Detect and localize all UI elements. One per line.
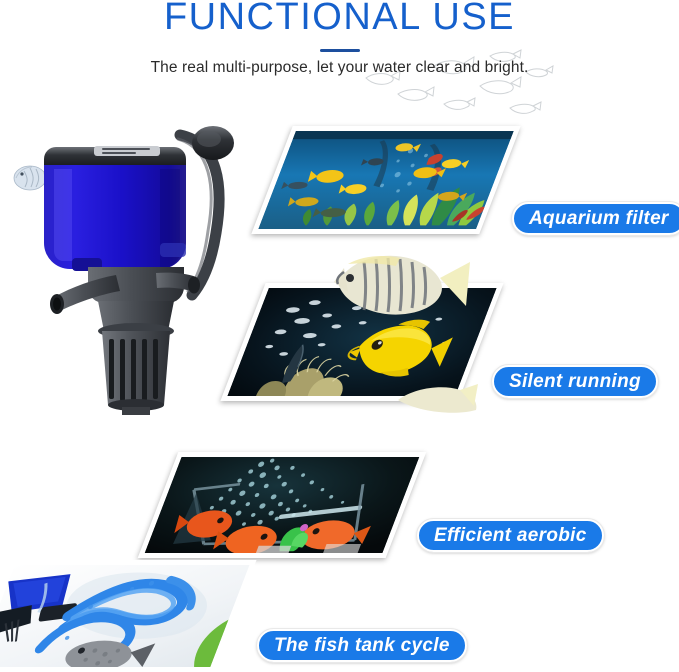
feature-badge-aquarium-filter[interactable]: Aquarium filter (512, 202, 679, 235)
badge-label: Efficient aerobic (434, 525, 587, 547)
title-divider (320, 49, 360, 52)
feature-photo-efficient-aerobic (138, 452, 427, 558)
product-pump-image (10, 115, 260, 415)
feature-photo-fish-tank-cycle (0, 560, 256, 672)
badge-label: Silent running (509, 371, 641, 393)
marketing-banner: FUNCTIONAL USE The real multi-purpose, l… (0, 0, 679, 665)
badge-label: Aquarium filter (529, 208, 669, 230)
badge-label: The fish tank cycle (274, 635, 450, 657)
page-subtitle: The real multi-purpose, let your water c… (0, 59, 679, 77)
page-title: FUNCTIONAL USE (0, 0, 679, 39)
feature-badge-fish-tank-cycle[interactable]: The fish tank cycle (257, 629, 467, 662)
feature-photo-aquarium-filter (251, 126, 520, 234)
feature-badge-silent-running[interactable]: Silent running (492, 365, 658, 398)
feature-badge-efficient-aerobic[interactable]: Efficient aerobic (417, 519, 604, 552)
fish-school-watermark (360, 44, 560, 116)
overlay-butterflyfish-tail (396, 384, 482, 414)
overlay-butterflyfish (318, 248, 478, 322)
